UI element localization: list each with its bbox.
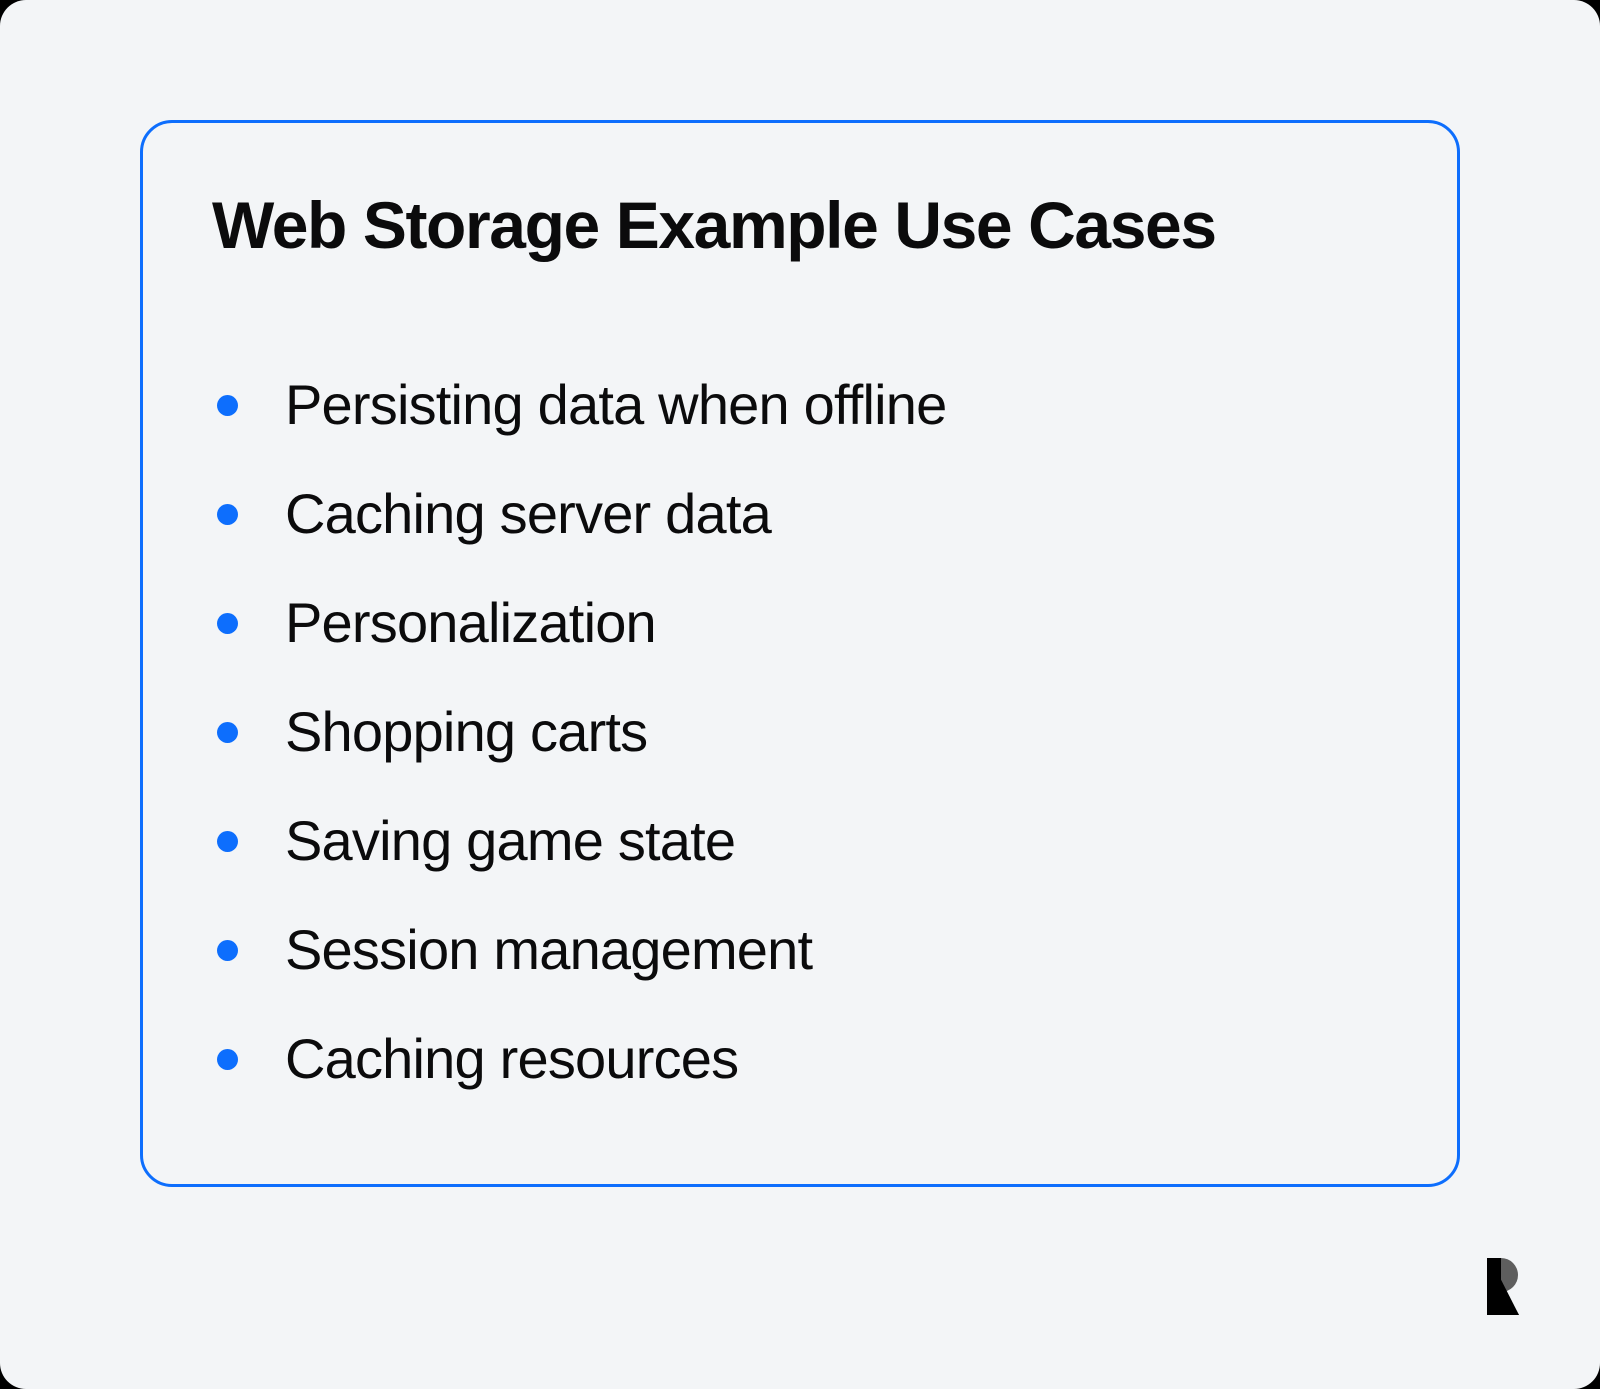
letter-r-logo-icon (1479, 1258, 1523, 1322)
use-case-list: Persisting data when offline Caching ser… (212, 350, 1417, 1113)
bullet-dot-icon (217, 1049, 238, 1070)
list-item-label: Session management (285, 919, 812, 981)
list-item-label: Personalization (285, 592, 656, 654)
bullet-dot-icon (217, 395, 238, 416)
list-item: Caching server data (212, 459, 1417, 568)
bullet-dot-icon (217, 940, 238, 961)
bullet-dot-icon (217, 504, 238, 525)
list-item: Saving game state (212, 786, 1417, 895)
page-surface: Web Storage Example Use Cases Persisting… (0, 0, 1600, 1389)
list-item: Shopping carts (212, 677, 1417, 786)
list-item-label: Persisting data when offline (285, 374, 946, 436)
list-item-label: Saving game state (285, 810, 735, 872)
list-item-label: Shopping carts (285, 701, 647, 763)
page-title: Web Storage Example Use Cases (212, 191, 1216, 260)
list-item: Session management (212, 895, 1417, 1004)
bullet-dot-icon (217, 831, 238, 852)
list-item-label: Caching server data (285, 483, 771, 545)
list-item: Persisting data when offline (212, 350, 1417, 459)
list-item: Personalization (212, 568, 1417, 677)
use-case-card: Web Storage Example Use Cases Persisting… (140, 120, 1460, 1187)
list-item-label: Caching resources (285, 1028, 738, 1090)
list-item: Caching resources (212, 1004, 1417, 1113)
bullet-dot-icon (217, 722, 238, 743)
bullet-dot-icon (217, 613, 238, 634)
